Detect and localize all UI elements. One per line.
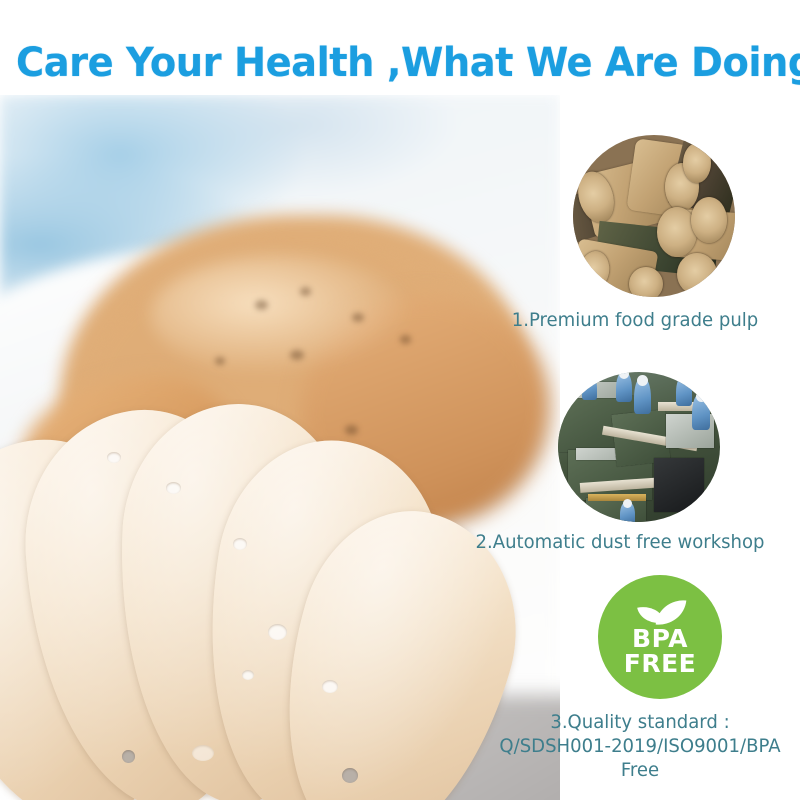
seasoning-speck [352,313,364,322]
log-cut-end [677,253,717,295]
cut-logs-photo [573,135,735,297]
quality-standard-value: Q/SDSH001-2019/ISO9001/BPA Free [483,734,797,782]
seasoning-speck [215,357,225,365]
worker-head [679,373,689,383]
quality-standard-label: 3.Quality standard : [483,710,797,734]
seasoning-speck [290,350,304,360]
two-leaves-icon [632,599,688,625]
roast-chicken-sheen [150,255,410,375]
factory-workshop-photo [558,372,720,522]
feature-caption-2: 2.Automatic dust free workshop [463,530,777,554]
feature-caption-3: 3.Quality standard : Q/SDSH001-2019/ISO9… [483,710,797,782]
machine-unit [654,458,704,512]
bpa-badge-line1: BPA [632,626,688,651]
leaf-right-icon [656,597,687,627]
log-cut-end [683,143,711,183]
seasoning-speck [300,287,311,296]
log-cut-end [629,267,663,297]
perforation-hole [233,538,247,550]
page-title: Care Your Health ,What We Are Doing [16,40,784,86]
perforation-hole [242,670,254,680]
perforation-hole [122,750,135,763]
perforation-hole [166,482,181,494]
perforation-hole [107,452,121,463]
worker-head [623,499,632,508]
perforation-hole [342,768,358,783]
worker-head [637,375,648,386]
machine-unit [586,498,646,522]
perforation-hole [192,745,214,761]
product-infographic-poster: Care Your Health ,What We Are Doing [0,0,800,800]
conveyor-belt [588,494,646,501]
log-cut-end [691,197,727,243]
perforation-hole [322,680,338,693]
bpa-free-badge: BPA FREE [598,575,722,699]
seasoning-speck [255,300,268,310]
seasoning-speck [400,335,411,344]
perforation-hole [268,624,287,640]
feature-caption-1: 1.Premium food grade pulp [478,308,792,332]
bpa-badge-line2: FREE [624,651,696,676]
worker-head [696,391,707,402]
feature-list: 1.Premium food grade pulp [470,110,800,800]
parchment-liner-stack [0,400,490,800]
